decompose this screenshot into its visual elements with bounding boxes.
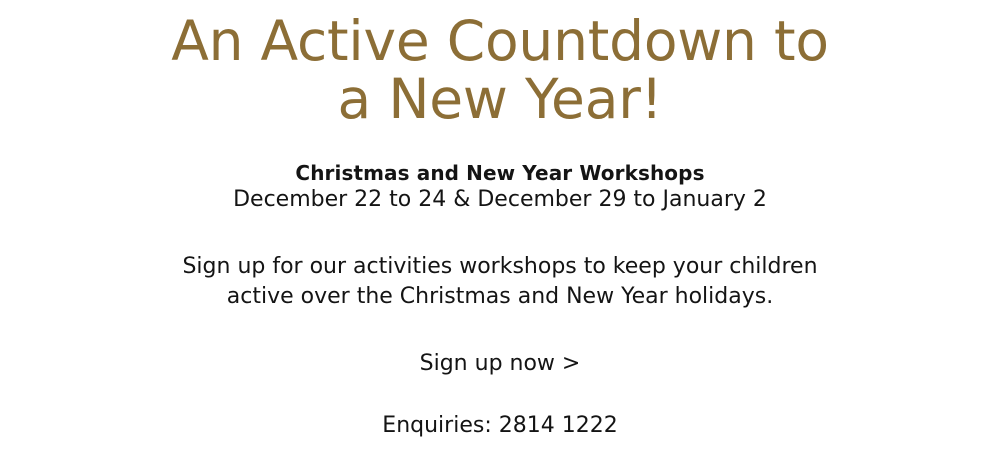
description-line-2: active over the Christmas and New Year h… [0,282,1000,312]
promo-banner: An Active Countdown to a New Year! Chris… [0,0,1000,452]
page-title: An Active Countdown to a New Year! [0,0,1000,128]
cta-container: Sign up now > [0,312,1000,378]
workshop-dates: December 22 to 24 & December 29 to Janua… [0,186,1000,214]
enquiries-container: Enquiries: 2814 1222 [0,378,1000,440]
page-title-line-1: An Active Countdown to [0,12,1000,70]
enquiries-text: Enquiries: 2814 1222 [0,412,1000,440]
workshop-info: Christmas and New Year Workshops Decembe… [0,160,1000,214]
description-line-1: Sign up for our activities workshops to … [0,252,1000,282]
page-title-line-2: a New Year! [0,70,1000,128]
sign-up-now-link[interactable]: Sign up now > [420,350,581,378]
description-text: Sign up for our activities workshops to … [0,214,1000,312]
workshop-title: Christmas and New Year Workshops [0,160,1000,186]
